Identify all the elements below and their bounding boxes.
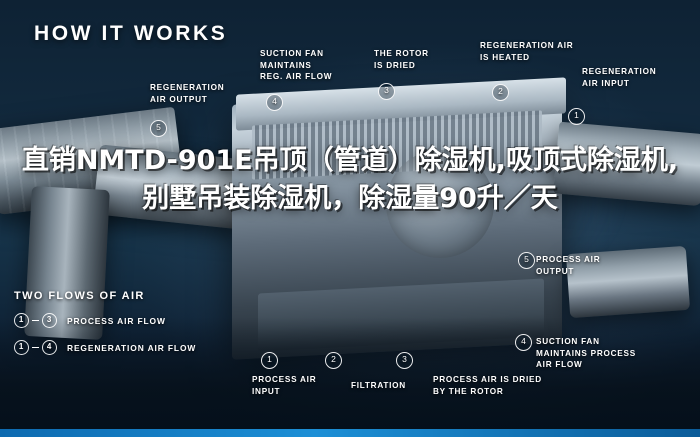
legend-row-process-air-flow: 1 3 PROCESS AIR FLOW <box>14 313 166 328</box>
legend-title: TWO FLOWS OF AIR <box>14 290 145 302</box>
callout-label-regeneration-air-input: REGENERATION AIR INPUT <box>582 66 690 89</box>
bottom-accent-bar <box>0 429 700 437</box>
legend-badge-to-4: 4 <box>42 340 57 355</box>
callout-label-process-air-output: PROCESS AIR OUTPUT <box>536 254 656 277</box>
background-floor-shadow <box>0 317 700 437</box>
legend-pair-regeneration: 1 4 <box>14 340 57 355</box>
callout-label-regeneration-air-output: REGENERATION AIR OUTPUT <box>150 82 260 105</box>
callout-badge-3-rotor-is-dried: 3 <box>378 83 395 100</box>
legend-dash-icon <box>32 320 39 321</box>
page-title: HOW IT WORKS <box>34 22 227 46</box>
callout-badge-5-regeneration-air-output: 5 <box>150 120 167 137</box>
callout-badge-1-regeneration-air-input: 1 <box>568 108 585 125</box>
callout-label-rotor-is-dried: THE ROTOR IS DRIED <box>374 48 470 71</box>
callout-badge-4-suction-fan-reg: 4 <box>266 94 283 111</box>
product-title-overlay: 直销NMTD-901E吊顶（管道）除湿机,吸顶式除湿机,别墅吊装除湿机，除湿量9… <box>0 142 700 218</box>
callout-label-process-air-input: PROCESS AIR INPUT <box>252 374 348 397</box>
callout-badge-5-process-air-output: 5 <box>518 252 535 269</box>
callout-label-process-air-dried: PROCESS AIR IS DRIED BY THE ROTOR <box>433 374 569 397</box>
callout-label-filtration: FILTRATION <box>351 380 423 392</box>
legend-badge-from-1-regen: 1 <box>14 340 29 355</box>
callout-badge-2-regeneration-air-heated: 2 <box>492 84 509 101</box>
callout-badge-2-filtration: 2 <box>325 352 342 369</box>
callout-label-suction-fan-process: SUCTION FAN MAINTAINS PROCESS AIR FLOW <box>536 336 682 371</box>
legend-row-regeneration-air-flow: 1 4 REGENERATION AIR FLOW <box>14 340 196 355</box>
callout-badge-4-suction-fan-process: 4 <box>515 334 532 351</box>
legend-label-regeneration-air-flow: REGENERATION AIR FLOW <box>67 343 196 353</box>
diagram-image: HOW IT WORKS REGENERATION AIR OUTPUT 5 S… <box>0 0 700 437</box>
callout-label-regeneration-air-heated: REGENERATION AIR IS HEATED <box>480 40 590 63</box>
callout-badge-3-process-air-dried: 3 <box>396 352 413 369</box>
legend-dash-icon-regen <box>32 347 39 348</box>
legend-badge-from-1: 1 <box>14 313 29 328</box>
callout-badge-1-process-air-input: 1 <box>261 352 278 369</box>
legend-pair-process: 1 3 <box>14 313 57 328</box>
legend-label-process-air-flow: PROCESS AIR FLOW <box>67 316 166 326</box>
legend-badge-to-3: 3 <box>42 313 57 328</box>
callout-label-suction-fan-reg: SUCTION FAN MAINTAINS REG. AIR FLOW <box>260 48 364 83</box>
